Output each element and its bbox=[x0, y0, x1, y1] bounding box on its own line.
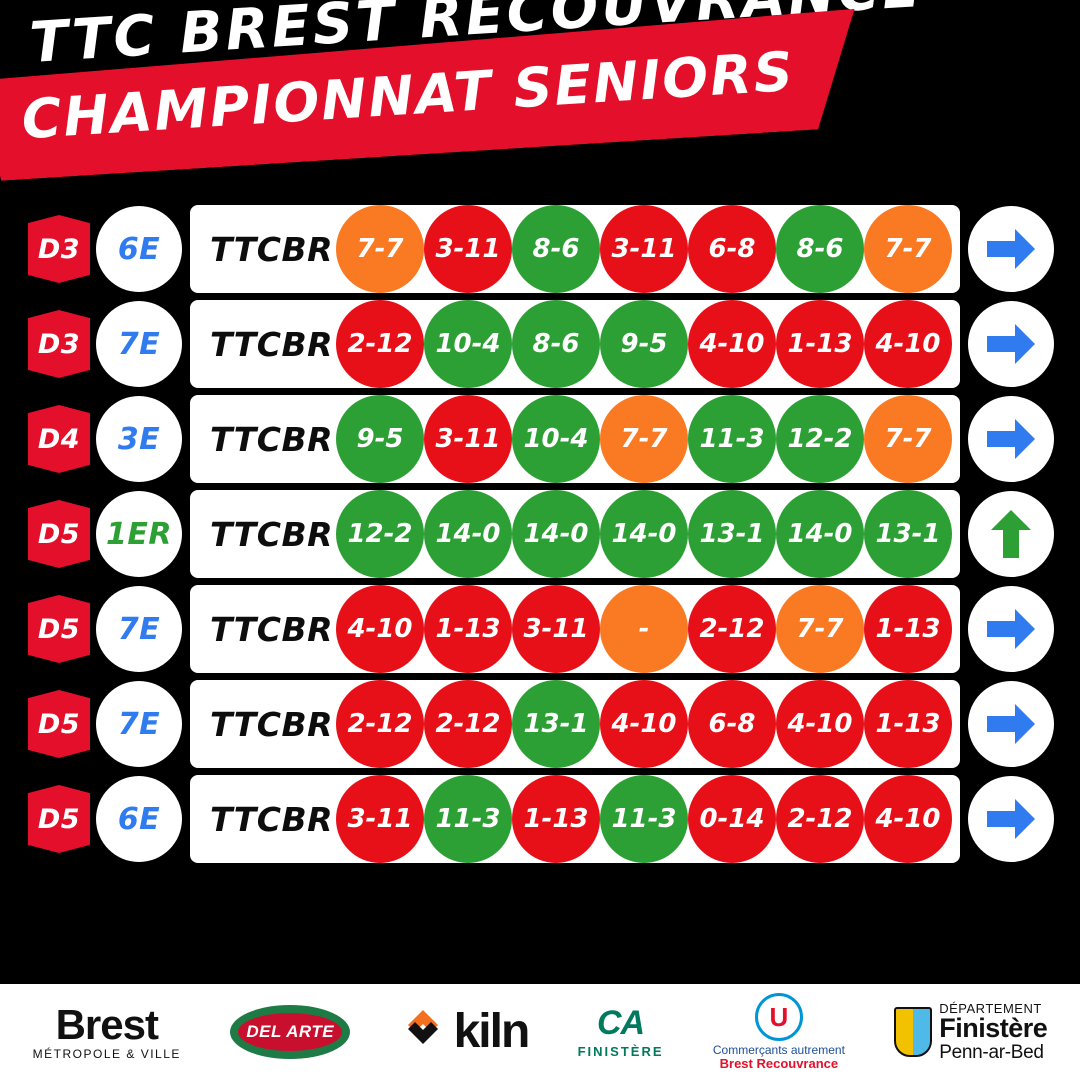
match-score-win: 12-2 bbox=[336, 490, 424, 578]
kiln-chevron-icon bbox=[400, 1007, 446, 1057]
match-score-draw: - bbox=[600, 585, 688, 673]
match-score-draw: 7-7 bbox=[864, 395, 952, 483]
rank-badge: 7E bbox=[96, 681, 182, 767]
score-list: 3-1111-31-1311-30-142-124-10 bbox=[336, 775, 960, 863]
rank-badge: 1ER bbox=[96, 491, 182, 577]
team-results-bar: TTCBR 1012-214-014-014-013-114-013-1 bbox=[190, 490, 960, 578]
table-row: D57ETTCBR 114-101-133-11-2-127-71-13 bbox=[0, 585, 1080, 673]
match-score-draw: 7-7 bbox=[776, 585, 864, 673]
team-results-bar: TTCBR 122-122-1213-14-106-84-101-13 bbox=[190, 680, 960, 768]
match-score-win: 11-3 bbox=[688, 395, 776, 483]
del-arte-outer-ellipse: DEL ARTE bbox=[230, 1005, 350, 1059]
match-score-win: 12-2 bbox=[776, 395, 864, 483]
team-results-bar: TTCBR 77-73-118-63-116-88-67-7 bbox=[190, 205, 960, 293]
sponsor-del-arte: DEL ARTE bbox=[230, 1005, 350, 1059]
sponsor-credit-agricole-name: CA bbox=[597, 1006, 644, 1042]
rank-badge: 7E bbox=[96, 586, 182, 672]
match-score-loss: 4-10 bbox=[864, 775, 952, 863]
match-score-win: 9-5 bbox=[336, 395, 424, 483]
match-score-loss: 1-13 bbox=[776, 300, 864, 388]
table-row: D51ERTTCBR 1012-214-014-014-013-114-013-… bbox=[0, 490, 1080, 578]
rank-badge: 6E bbox=[96, 776, 182, 862]
division-label: D5 bbox=[38, 709, 80, 740]
division-label: D3 bbox=[38, 329, 80, 360]
table-row: D43ETTCBR 99-53-1110-47-711-312-27-7 bbox=[0, 395, 1080, 483]
match-score-win: 10-4 bbox=[512, 395, 600, 483]
score-list: 9-53-1110-47-711-312-27-7 bbox=[336, 395, 960, 483]
match-score-loss: 2-12 bbox=[336, 680, 424, 768]
match-score-loss: 4-10 bbox=[336, 585, 424, 673]
match-score-win: 11-3 bbox=[424, 775, 512, 863]
match-score-draw: 7-7 bbox=[600, 395, 688, 483]
match-score-draw: 7-7 bbox=[336, 205, 424, 293]
sponsor-super-u-name: U bbox=[755, 993, 803, 1041]
sponsor-credit-agricole: CA FINISTÈRE bbox=[578, 1006, 664, 1058]
sponsor-brest: Brest MÉTROPOLE & VILLE bbox=[33, 1003, 181, 1061]
match-score-loss: 6-8 bbox=[688, 680, 776, 768]
match-score-win: 13-1 bbox=[512, 680, 600, 768]
rank-badge: 7E bbox=[96, 301, 182, 387]
arrow-up-icon bbox=[968, 491, 1054, 577]
match-score-loss: 1-13 bbox=[424, 585, 512, 673]
arrow-right-icon bbox=[968, 396, 1054, 482]
sponsor-kiln-name: kiln bbox=[454, 1007, 529, 1057]
division-label: D5 bbox=[38, 614, 80, 645]
table-row: D37ETTCBR 82-1210-48-69-54-101-134-10 bbox=[0, 300, 1080, 388]
sponsor-brest-name: Brest bbox=[56, 1003, 158, 1047]
match-score-win: 14-0 bbox=[512, 490, 600, 578]
match-score-win: 14-0 bbox=[776, 490, 864, 578]
sponsor-super-u: U Commerçants autrement Brest Recouvranc… bbox=[713, 993, 845, 1070]
table-row: D36ETTCBR 77-73-118-63-116-88-67-7 bbox=[0, 205, 1080, 293]
score-list: 12-214-014-014-013-114-013-1 bbox=[336, 490, 960, 578]
division-badge: D4 bbox=[28, 405, 90, 473]
team-name: TTCBR 8 bbox=[190, 325, 336, 364]
match-score-loss: 0-14 bbox=[688, 775, 776, 863]
match-score-win: 8-6 bbox=[512, 300, 600, 388]
sponsor-credit-agricole-region: FINISTÈRE bbox=[578, 1045, 664, 1059]
division-badge: D5 bbox=[28, 690, 90, 758]
team-results-bar: TTCBR 133-1111-31-1311-30-142-124-10 bbox=[190, 775, 960, 863]
match-score-win: 13-1 bbox=[864, 490, 952, 578]
match-score-win: 13-1 bbox=[688, 490, 776, 578]
sponsor-kiln: kiln bbox=[400, 1007, 529, 1057]
match-score-loss: 1-13 bbox=[864, 585, 952, 673]
sponsor-finistere-name: Finistère bbox=[939, 1015, 1047, 1043]
match-score-loss: 1-13 bbox=[864, 680, 952, 768]
sponsor-brest-tagline: MÉTROPOLE & VILLE bbox=[33, 1048, 181, 1061]
header: TTC BREST RECOUVRANCE CHAMPIONNAT SENIOR… bbox=[0, 0, 1080, 190]
division-badge: D3 bbox=[28, 215, 90, 283]
match-score-loss: 2-12 bbox=[688, 585, 776, 673]
rank-badge: 6E bbox=[96, 206, 182, 292]
team-name: TTCBR 7 bbox=[190, 230, 336, 269]
arrow-right-icon bbox=[968, 586, 1054, 672]
team-name: TTCBR 13 bbox=[190, 800, 336, 839]
team-name: TTCBR 12 bbox=[190, 705, 336, 744]
score-list: 7-73-118-63-116-88-67-7 bbox=[336, 205, 960, 293]
match-score-win: 11-3 bbox=[600, 775, 688, 863]
match-score-win: 8-6 bbox=[776, 205, 864, 293]
sponsor-departement-finistere: DÉPARTEMENT Finistère Penn-ar-Bed bbox=[894, 1002, 1047, 1062]
score-list: 2-122-1213-14-106-84-101-13 bbox=[336, 680, 960, 768]
match-score-loss: 4-10 bbox=[864, 300, 952, 388]
arrow-right-icon bbox=[968, 681, 1054, 767]
arrow-right-icon bbox=[968, 301, 1054, 387]
team-results-bar: TTCBR 82-1210-48-69-54-101-134-10 bbox=[190, 300, 960, 388]
match-score-loss: 3-11 bbox=[424, 395, 512, 483]
finistere-breton-name: Penn-ar-Bed bbox=[939, 1043, 1047, 1062]
match-score-loss: 2-12 bbox=[776, 775, 864, 863]
division-badge: D5 bbox=[28, 785, 90, 853]
score-list: 4-101-133-11-2-127-71-13 bbox=[336, 585, 960, 673]
match-score-draw: 7-7 bbox=[864, 205, 952, 293]
match-score-loss: 2-12 bbox=[336, 300, 424, 388]
match-score-win: 8-6 bbox=[512, 205, 600, 293]
division-label: D3 bbox=[38, 234, 80, 265]
division-badge: D5 bbox=[28, 500, 90, 568]
division-badge: D5 bbox=[28, 595, 90, 663]
team-name: TTCBR 9 bbox=[190, 420, 336, 459]
division-label: D4 bbox=[38, 424, 80, 455]
match-score-loss: 4-10 bbox=[600, 680, 688, 768]
match-score-loss: 3-11 bbox=[336, 775, 424, 863]
table-row: D57ETTCBR 122-122-1213-14-106-84-101-13 bbox=[0, 680, 1080, 768]
match-score-loss: 6-8 bbox=[688, 205, 776, 293]
match-score-loss: 2-12 bbox=[424, 680, 512, 768]
division-badge: D3 bbox=[28, 310, 90, 378]
team-name: TTCBR 11 bbox=[190, 610, 336, 649]
arrow-right-icon bbox=[968, 776, 1054, 862]
match-score-win: 14-0 bbox=[424, 490, 512, 578]
sponsor-bar: Brest MÉTROPOLE & VILLE DEL ARTE kiln CA… bbox=[0, 984, 1080, 1080]
table-row: D56ETTCBR 133-1111-31-1311-30-142-124-10 bbox=[0, 775, 1080, 863]
finistere-text-block: DÉPARTEMENT Finistère Penn-ar-Bed bbox=[939, 1002, 1047, 1062]
score-list: 2-1210-48-69-54-101-134-10 bbox=[336, 300, 960, 388]
sponsor-del-arte-name: DEL ARTE bbox=[238, 1013, 342, 1051]
division-label: D5 bbox=[38, 519, 80, 550]
sponsor-super-u-location: Brest Recouvrance bbox=[720, 1057, 839, 1071]
match-score-loss: 4-10 bbox=[688, 300, 776, 388]
team-results-bar: TTCBR 99-53-1110-47-711-312-27-7 bbox=[190, 395, 960, 483]
arrow-right-icon bbox=[968, 206, 1054, 292]
match-score-loss: 4-10 bbox=[776, 680, 864, 768]
division-label: D5 bbox=[38, 804, 80, 835]
results-table: D36ETTCBR 77-73-118-63-116-88-67-7D37ETT… bbox=[0, 205, 1080, 870]
match-score-win: 9-5 bbox=[600, 300, 688, 388]
match-score-loss: 3-11 bbox=[424, 205, 512, 293]
rank-badge: 3E bbox=[96, 396, 182, 482]
team-name: TTCBR 10 bbox=[190, 515, 336, 554]
match-score-loss: 1-13 bbox=[512, 775, 600, 863]
match-score-loss: 3-11 bbox=[600, 205, 688, 293]
finistere-coat-of-arms-icon bbox=[894, 1007, 932, 1057]
team-results-bar: TTCBR 114-101-133-11-2-127-71-13 bbox=[190, 585, 960, 673]
match-score-loss: 3-11 bbox=[512, 585, 600, 673]
match-score-win: 14-0 bbox=[600, 490, 688, 578]
match-score-win: 10-4 bbox=[424, 300, 512, 388]
